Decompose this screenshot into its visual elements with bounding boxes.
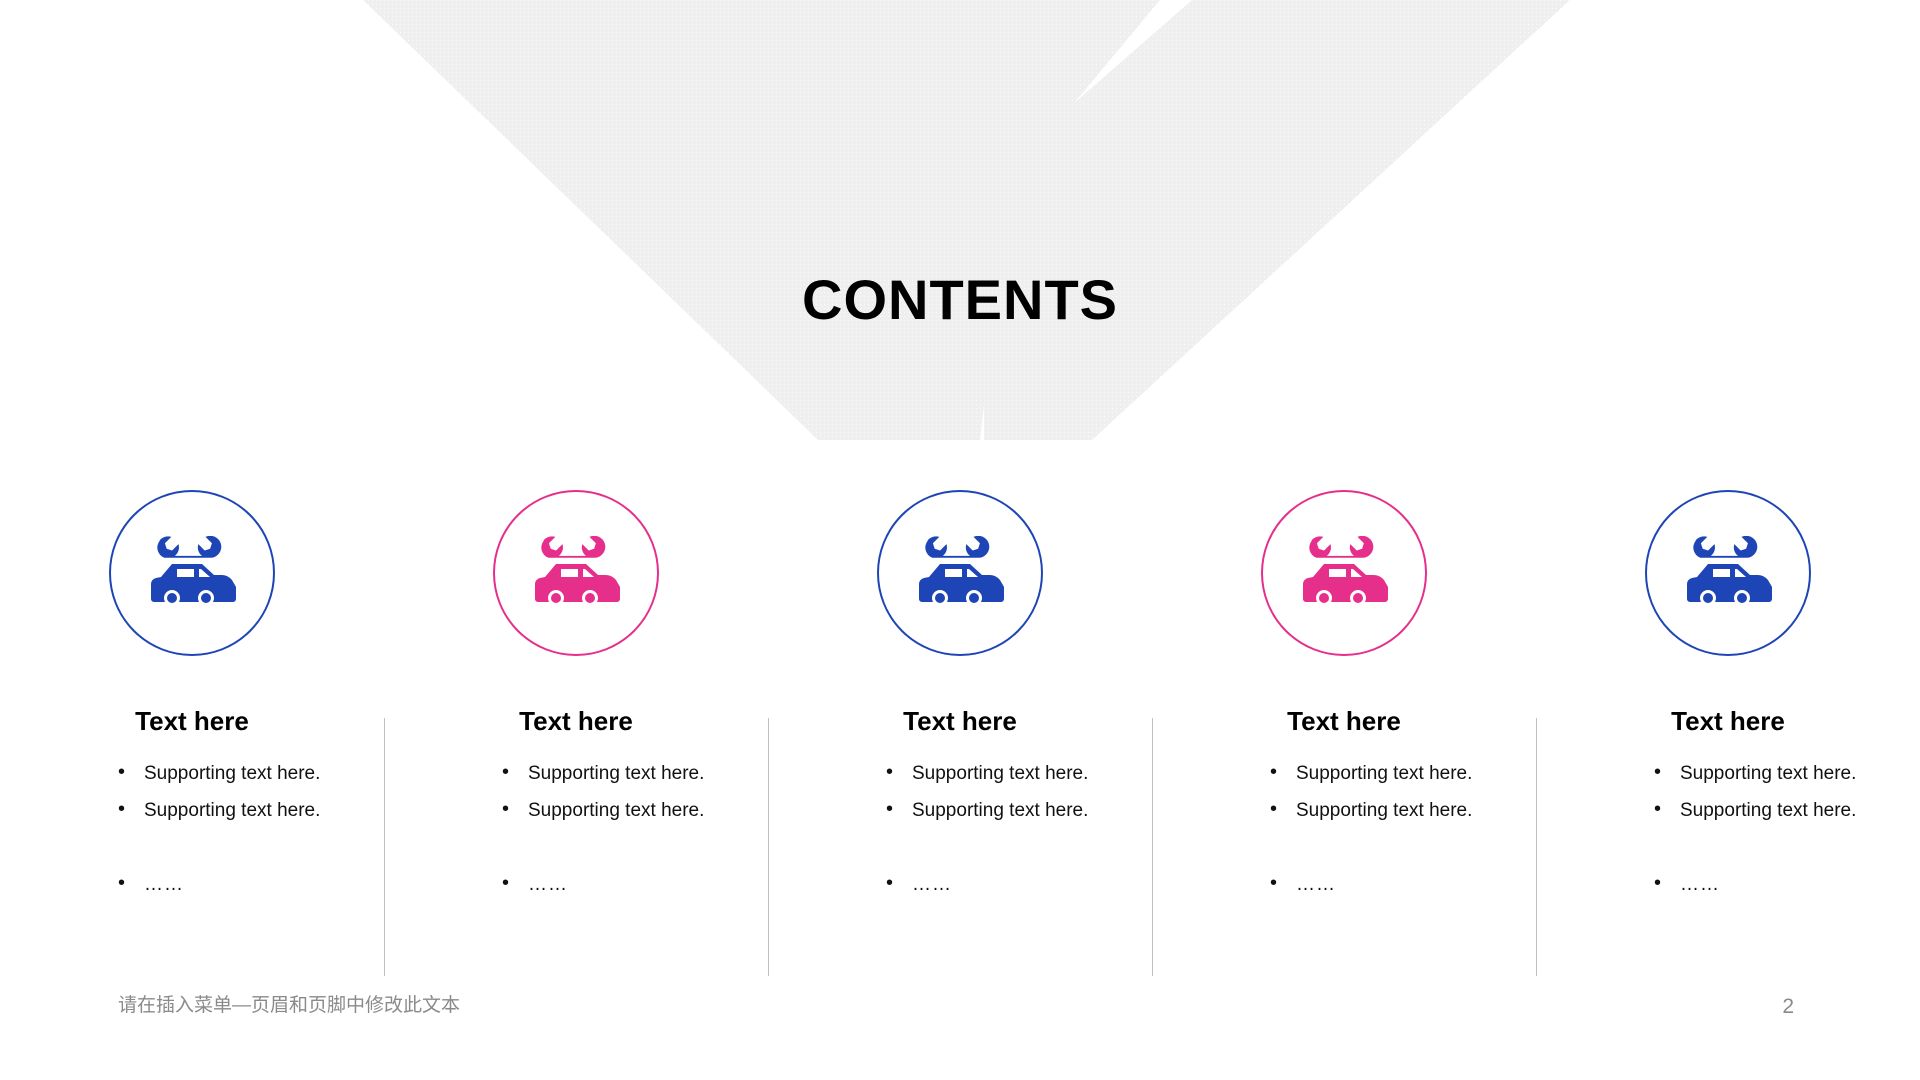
column-bullets: Supporting text here. Supporting text he… [1152,764,1536,912]
car-wrench-icon [1682,536,1774,610]
icon-circle-3[interactable] [877,490,1043,656]
content-column: Text here Supporting text here. Supporti… [384,490,768,990]
page-title: CONTENTS [0,272,1920,328]
icon-circle-1[interactable] [109,490,275,656]
bullet-item: Supporting text here. [1654,801,1920,820]
bullet-item: Supporting text here. [1654,764,1920,783]
content-column: Text here Supporting text here. Supporti… [1152,490,1536,990]
bullet-item: …… [502,875,768,894]
bullet-item: Supporting text here. [502,764,768,783]
bullet-item: Supporting text here. [886,764,1152,783]
bullet-item: Supporting text here. [886,801,1152,820]
chevron-left-band [363,0,1160,440]
content-column: Text here Supporting text here. Supporti… [1536,490,1920,990]
car-wrench-icon [146,536,238,610]
bullet-item: Supporting text here. [502,801,768,820]
bullet-item: Supporting text here. [118,764,384,783]
column-heading: Text here [1287,708,1401,734]
contents-columns: Text here Supporting text here. Supporti… [0,490,1920,990]
content-column: Text here Supporting text here. Supporti… [768,490,1152,990]
bullet-item: …… [118,875,384,894]
icon-circle-5[interactable] [1645,490,1811,656]
bullet-item: …… [1654,875,1920,894]
column-bullets: Supporting text here. Supporting text he… [0,764,384,912]
page-number: 2 [1782,996,1794,1017]
bullet-item: Supporting text here. [1270,801,1536,820]
bullet-item: Supporting text here. [118,801,384,820]
column-bullets: Supporting text here. Supporting text he… [768,764,1152,912]
chevron-banner-decoration [0,0,1920,460]
column-bullets: Supporting text here. Supporting text he… [384,764,768,912]
column-heading: Text here [135,708,249,734]
icon-circle-2[interactable] [493,490,659,656]
car-wrench-icon [1298,536,1390,610]
chevron-right-band [984,0,1570,440]
bullet-item: …… [886,875,1152,894]
footer-text: 请在插入菜单—页眉和页脚中修改此文本 [118,996,460,1015]
car-wrench-icon [530,536,622,610]
column-heading: Text here [1671,708,1785,734]
car-wrench-icon [914,536,1006,610]
column-heading: Text here [903,708,1017,734]
icon-circle-4[interactable] [1261,490,1427,656]
column-bullets: Supporting text here. Supporting text he… [1536,764,1920,912]
content-column: Text here Supporting text here. Supporti… [0,490,384,990]
bullet-item: …… [1270,875,1536,894]
column-heading: Text here [519,708,633,734]
slide-canvas: CONTENTS Text here Supporting t [0,0,1920,1080]
bullet-item: Supporting text here. [1270,764,1536,783]
